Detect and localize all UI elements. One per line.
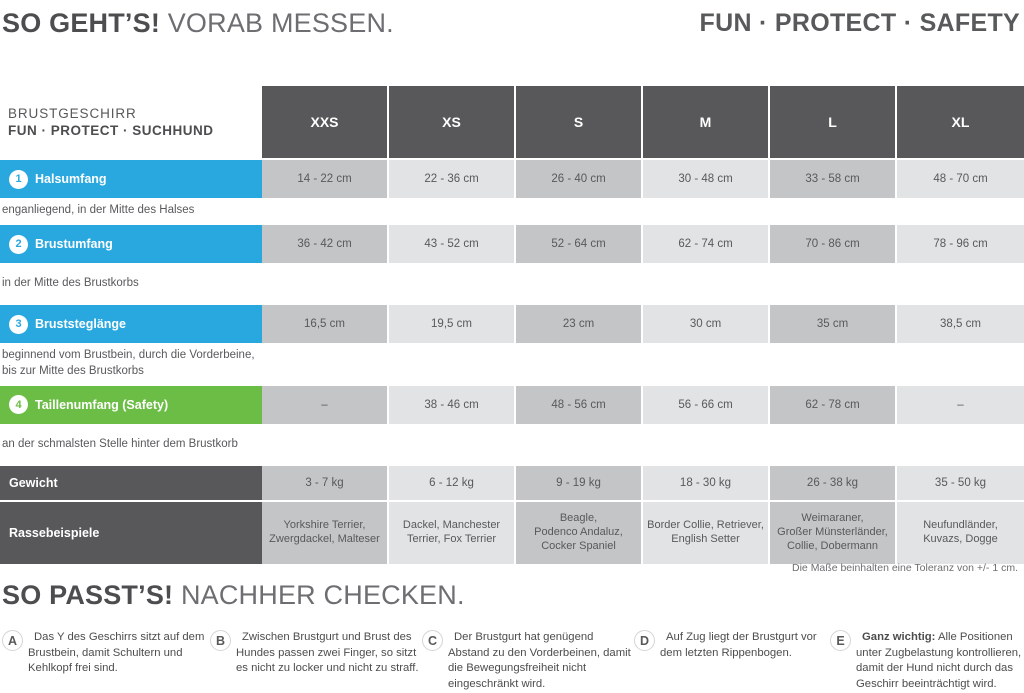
cell-taillenumfang-m: 56 - 66 cm — [643, 386, 770, 424]
cell-brustumfang-xs: 43 - 52 cm — [389, 225, 516, 263]
row-badge-4: 4 — [9, 395, 28, 414]
checklist-text-c: Der Brustgurt hat genügend Abstand zu de… — [448, 630, 634, 692]
row-label-text: Brustumfang — [35, 237, 113, 251]
checklist-item-a: A Das Y des Geschirrs sitzt auf dem Brus… — [2, 630, 210, 692]
row-label-gewicht: Gewicht — [0, 466, 262, 500]
cell-bruststeglaenge-xl: 38,5 cm — [897, 305, 1024, 343]
description-row-bruststeglaenge: beginnend vom Brustbein, durch die Vorde… — [0, 343, 1024, 383]
checklist: A Das Y des Geschirrs sitzt auf dem Brus… — [2, 630, 1022, 692]
row-label-halsumfang: 1 Halsumfang — [0, 160, 262, 198]
table-row-halsumfang: 1 Halsumfang 14 - 22 cm 22 - 36 cm 26 - … — [0, 160, 1024, 198]
cell-bruststeglaenge-xs: 19,5 cm — [389, 305, 516, 343]
table-row-rassebeispiele: Rassebeispiele Yorkshire Terrier, Zwergd… — [0, 502, 1024, 564]
description-row-taillenumfang: an der schmalsten Stelle hinter dem Brus… — [0, 424, 1024, 464]
description-row-halsumfang: enganliegend, in der Mitte des Halses — [0, 198, 1024, 223]
cell-taillenumfang-xs: 38 - 46 cm — [389, 386, 516, 424]
row-badge-2: 2 — [9, 235, 28, 254]
checklist-text-e: Ganz wichtig: Alle Positionen unter Zugb… — [856, 630, 1022, 692]
cell-taillenumfang-s: 48 - 56 cm — [516, 386, 643, 424]
row-label-text: Halsumfang — [35, 172, 107, 186]
row-label-rassebeispiele: Rassebeispiele — [0, 502, 262, 564]
table-row-brustumfang: 2 Brustumfang 36 - 42 cm 43 - 52 cm 52 -… — [0, 225, 1024, 263]
cell-bruststeglaenge-l: 35 cm — [770, 305, 897, 343]
cell-gewicht-xxs: 3 - 7 kg — [262, 466, 389, 500]
cell-rasse-xxs: Yorkshire Terrier, Zwergdackel, Malteser — [262, 502, 389, 564]
row-label-bruststeglaenge: 3 Bruststeglänge — [0, 305, 262, 343]
cell-bruststeglaenge-xxs: 16,5 cm — [262, 305, 389, 343]
cell-brustumfang-s: 52 - 64 cm — [516, 225, 643, 263]
cell-brustumfang-l: 70 - 86 cm — [770, 225, 897, 263]
sizing-chart-page: SO GEHT’S! VORAB MESSEN. FUN · PROTECT ·… — [0, 0, 1024, 693]
checklist-text-d: Auf Zug liegt der Brustgurt vor dem letz… — [660, 630, 830, 661]
footer-heading-bold: SO PASST’S! — [2, 580, 173, 610]
size-header-xs: XS — [389, 86, 516, 158]
cell-gewicht-l: 26 - 38 kg — [770, 466, 897, 500]
cell-bruststeglaenge-s: 23 cm — [516, 305, 643, 343]
size-header-l: L — [770, 86, 897, 158]
checklist-badge-a: A — [2, 630, 23, 651]
cell-gewicht-s: 9 - 19 kg — [516, 466, 643, 500]
checklist-text-b: Zwischen Brustgurt und Brust des Hundes … — [236, 630, 422, 677]
tolerance-note: Die Maße beinhalten eine Toleranz von +/… — [792, 562, 1018, 574]
checklist-item-e: E Ganz wichtig: Alle Positionen unter Zu… — [830, 630, 1022, 692]
cell-gewicht-xs: 6 - 12 kg — [389, 466, 516, 500]
corner-line-2: FUN · PROTECT · SUCHHUND — [8, 123, 262, 138]
header-left-bold: SO GEHT’S! — [2, 8, 160, 38]
checklist-text-a: Das Y des Geschirrs sitzt auf dem Brustb… — [28, 630, 210, 677]
row-label-text: Bruststeglänge — [35, 317, 126, 331]
table-row-bruststeglaenge: 3 Bruststeglänge 16,5 cm 19,5 cm 23 cm 3… — [0, 305, 1024, 343]
description-row-brustumfang: in der Mitte des Brustkorbs — [0, 263, 1024, 303]
row-label-text: Taillenumfang (Safety) — [35, 398, 168, 412]
size-table: BRUSTGESCHIRR FUN · PROTECT · SUCHHUND X… — [0, 86, 1024, 564]
cell-halsumfang-l: 33 - 58 cm — [770, 160, 897, 198]
checklist-text-e-bold: Ganz wichtig: — [862, 631, 935, 643]
table-corner-label: BRUSTGESCHIRR FUN · PROTECT · SUCHHUND — [0, 86, 262, 158]
row-label-taillenumfang: 4 Taillenumfang (Safety) — [0, 386, 262, 424]
checklist-badge-e: E — [830, 630, 851, 651]
row-badge-1: 1 — [9, 170, 28, 189]
checklist-badge-c: C — [422, 630, 443, 651]
checklist-item-d: D Auf Zug liegt der Brustgurt vor dem le… — [634, 630, 830, 692]
checklist-item-c: C Der Brustgurt hat genügend Abstand zu … — [422, 630, 634, 692]
cell-rasse-s: Beagle, Podenco Andaluz, Cocker Spaniel — [516, 502, 643, 564]
cell-bruststeglaenge-m: 30 cm — [643, 305, 770, 343]
row-badge-3: 3 — [9, 315, 28, 334]
cell-rasse-xl: Neufundländer, Kuvazs, Dogge — [897, 502, 1024, 564]
checklist-badge-b: B — [210, 630, 231, 651]
cell-taillenumfang-l: 62 - 78 cm — [770, 386, 897, 424]
table-header-row: BRUSTGESCHIRR FUN · PROTECT · SUCHHUND X… — [0, 86, 1024, 158]
table-row-taillenumfang: 4 Taillenumfang (Safety) – 38 - 46 cm 48… — [0, 386, 1024, 424]
table-row-gewicht: Gewicht 3 - 7 kg 6 - 12 kg 9 - 19 kg 18 … — [0, 466, 1024, 500]
cell-halsumfang-xl: 48 - 70 cm — [897, 160, 1024, 198]
cell-halsumfang-m: 30 - 48 cm — [643, 160, 770, 198]
footer-heading: SO PASST’S! NACHHER CHECKEN. — [2, 580, 465, 611]
header-right-tagline: FUN · PROTECT · SAFETY — [700, 9, 1020, 38]
description-bruststeglaenge: beginnend vom Brustbein, durch die Vorde… — [0, 343, 420, 383]
checklist-badge-d: D — [634, 630, 655, 651]
row-label-brustumfang: 2 Brustumfang — [0, 225, 262, 263]
size-header-m: M — [643, 86, 770, 158]
size-header-s: S — [516, 86, 643, 158]
cell-rasse-m: Border Collie, Retriever, English Setter — [643, 502, 770, 564]
cell-rasse-xs: Dackel, Manchester Terrier, Fox Terrier — [389, 502, 516, 564]
cell-gewicht-xl: 35 - 50 kg — [897, 466, 1024, 500]
checklist-item-b: B Zwischen Brustgurt und Brust des Hunde… — [210, 630, 422, 692]
cell-gewicht-m: 18 - 30 kg — [643, 466, 770, 500]
cell-rasse-l: Weimaraner, Großer Münsterländer, Collie… — [770, 502, 897, 564]
header-left-regular: VORAB MESSEN. — [168, 8, 394, 38]
size-header-xl: XL — [897, 86, 1024, 158]
size-header-xxs: XXS — [262, 86, 389, 158]
header-left-title: SO GEHT’S! VORAB MESSEN. — [2, 8, 394, 39]
cell-brustumfang-m: 62 - 74 cm — [643, 225, 770, 263]
cell-brustumfang-xl: 78 - 96 cm — [897, 225, 1024, 263]
page-header: SO GEHT’S! VORAB MESSEN. FUN · PROTECT ·… — [0, 0, 1024, 46]
cell-taillenumfang-xl: – — [897, 386, 1024, 424]
cell-brustumfang-xxs: 36 - 42 cm — [262, 225, 389, 263]
cell-halsumfang-s: 26 - 40 cm — [516, 160, 643, 198]
corner-line-1: BRUSTGESCHIRR — [8, 106, 262, 121]
cell-halsumfang-xxs: 14 - 22 cm — [262, 160, 389, 198]
footer-heading-regular: NACHHER CHECKEN. — [181, 580, 465, 610]
description-halsumfang: enganliegend, in der Mitte des Halses — [0, 198, 400, 223]
cell-halsumfang-xs: 22 - 36 cm — [389, 160, 516, 198]
description-taillenumfang: an der schmalsten Stelle hinter dem Brus… — [0, 424, 420, 464]
description-brustumfang: in der Mitte des Brustkorbs — [0, 263, 400, 303]
cell-taillenumfang-xxs: – — [262, 386, 389, 424]
